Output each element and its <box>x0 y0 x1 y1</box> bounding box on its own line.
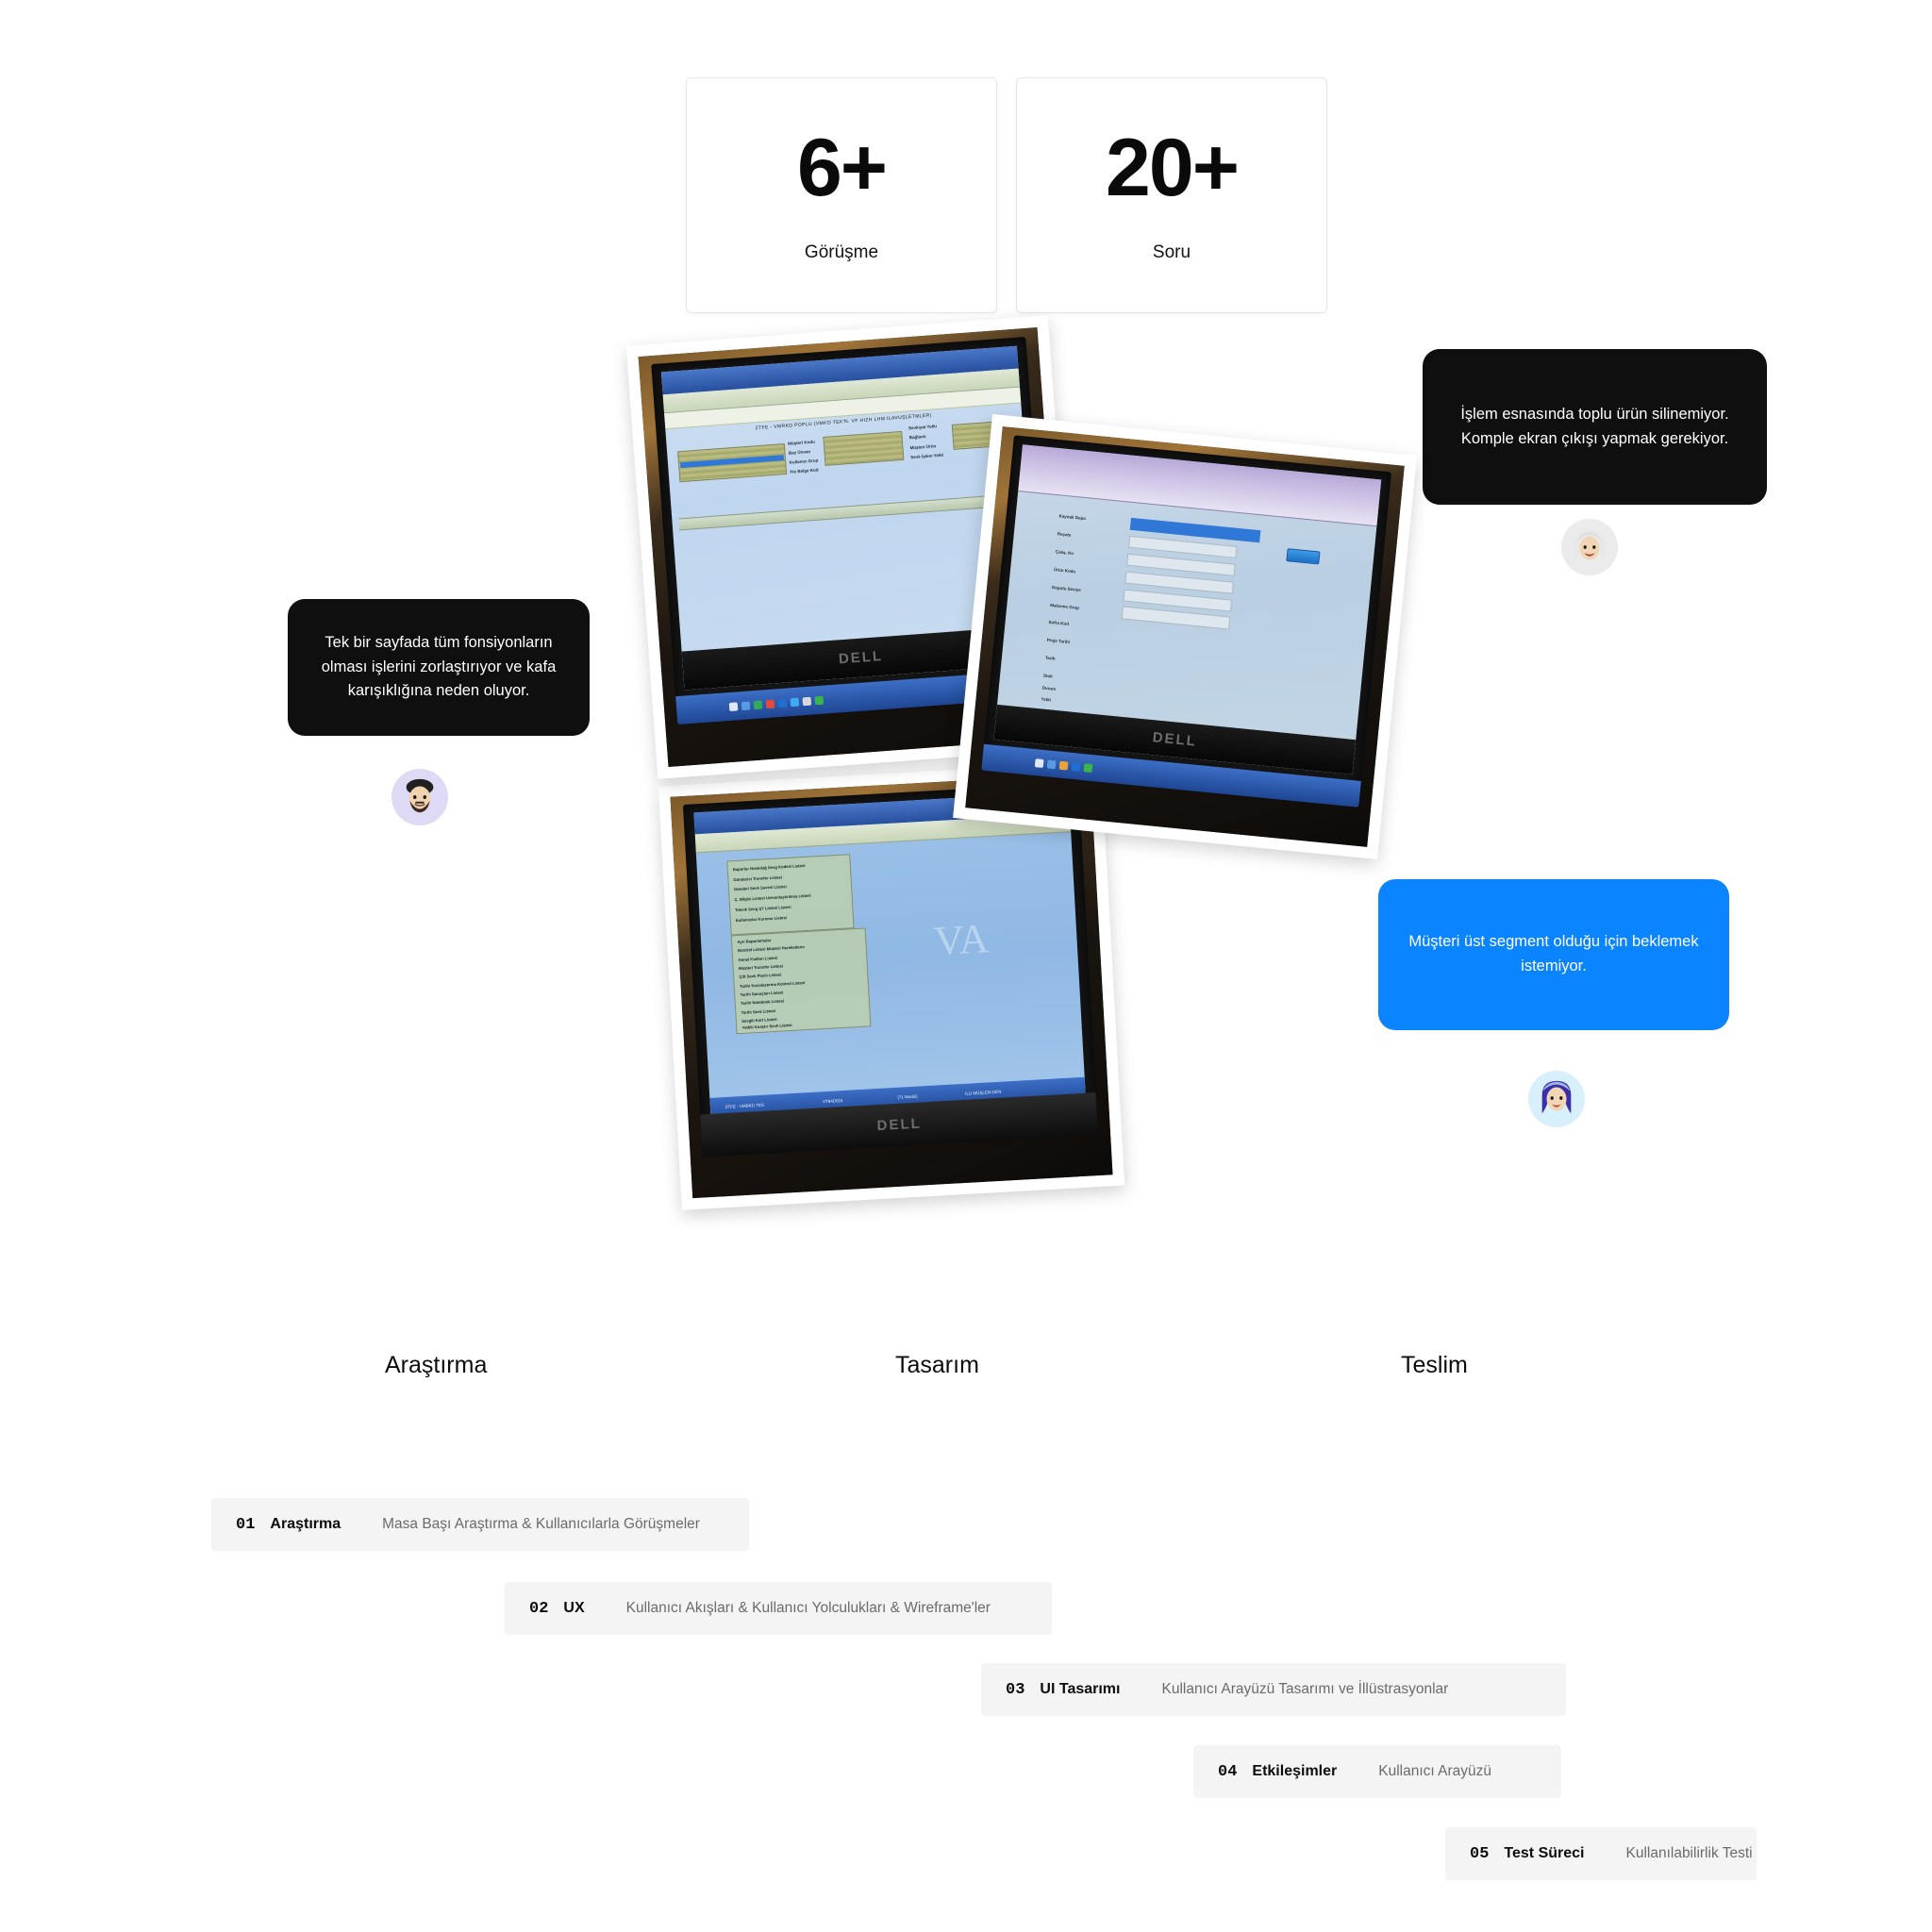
screen-watermark: VA <box>933 914 991 965</box>
monitor-screen: Kaynak Depo Reçete Çalış. Ko Ürün Kodu D… <box>993 444 1381 774</box>
form-field-block <box>824 431 904 465</box>
monitor-bezel: Kaynak Depo Reçete Çalış. Ko Ürün Kodu D… <box>981 435 1391 808</box>
quote-text: Müşteri üst segment olduğu için beklemek… <box>1403 930 1705 978</box>
dell-logo: DELL <box>1152 729 1198 750</box>
form-search-button[interactable] <box>1287 548 1321 564</box>
step-title: Araştırma <box>270 1516 341 1533</box>
taskbar-icon <box>1059 760 1069 770</box>
step-number: 04 <box>1218 1763 1237 1781</box>
photo-image: VA Raporlar Noskdağ Sevg Kodesi Listesi … <box>670 774 1112 1198</box>
taskbar-icon <box>1035 758 1044 768</box>
monitor-screen: VA Raporlar Noskdağ Sevg Kodesi Listesi … <box>693 791 1086 1124</box>
dropdown-menu-group-2[interactable]: Ayrı Raporlamalar Bordrol Listesi Müşter… <box>730 927 871 1034</box>
step-title: Test Süreci <box>1504 1845 1584 1862</box>
research-photo-2: Kaynak Depo Reçete Çalış. Ko Ürün Kodu D… <box>953 414 1417 859</box>
quote-bubble-pain-functions: Tek bir sayfada tüm fonsiyonların olması… <box>288 599 590 736</box>
avatar-memoji-woman-blue-hair <box>1528 1071 1585 1127</box>
memoji-man-beard-icon <box>398 775 441 819</box>
field-label: Sevkiyat Yetki <box>908 424 937 430</box>
field-label: Kullanıcı Grup <box>789 458 818 465</box>
dell-logo: DELL <box>838 648 883 667</box>
step-description: Kullanıcı Akışları & Kullanıcı Yolculukl… <box>626 1600 991 1617</box>
stats-row: 6+ Görüşme 20+ Soru <box>686 77 1327 313</box>
dropdown-menu-group-1[interactable]: Raporlar Noskdağ Sevg Kodesi Listesi Gön… <box>726 854 855 935</box>
research-photo-collage: ZTFE - VMRKD POPLU (VMKO TEK'N. VF HIZH … <box>641 330 1509 1255</box>
taskbar-window-label[interactable]: [71 Modül] <box>897 1093 917 1099</box>
monitor-bezel: VA Raporlar Noskdağ Sevg Kodesi Listesi … <box>683 782 1098 1158</box>
avatar-memoji-woman-white-hair <box>1561 519 1618 575</box>
field-label: Hız Belge Kod <box>790 468 819 475</box>
stat-label: Soru <box>1153 242 1191 263</box>
quote-bubble-pain-waiting: Müşteri üst segment olduğu için beklemek… <box>1378 879 1729 1030</box>
phase-label-tasarim: Tasarım <box>895 1352 979 1379</box>
taskbar-icon <box>777 698 787 708</box>
step-number: 02 <box>529 1600 548 1618</box>
field-label: Bağlantı <box>909 434 926 440</box>
step-description: Kullanıcı Arayüzü Tasarımı ve İllüstrasy… <box>1161 1681 1448 1698</box>
process-step-03[interactable]: 03 UI Tasarımı Kullanıcı Arayüzü Tasarım… <box>981 1663 1566 1716</box>
taskbar-icon <box>814 695 824 705</box>
step-number: 03 <box>1006 1681 1024 1699</box>
monitor-body: Kaynak Depo Reçete Çalış. Ko Ürün Kodu D… <box>965 426 1405 847</box>
step-title: UI Tasarımı <box>1040 1681 1120 1698</box>
avatar-memoji-man-beard <box>391 769 448 825</box>
monitor-body: VA Raporlar Noskdağ Sevg Kodesi Listesi … <box>670 774 1112 1198</box>
taskbar-icon <box>741 701 750 710</box>
taskbar-icon <box>765 699 774 708</box>
taskbar-icon <box>1072 762 1081 772</box>
quote-bubble-pain-bulk-delete: İşlem esnasında toplu ürün silinemiyor. … <box>1423 349 1767 505</box>
process-step-01[interactable]: 01 Araştırma Masa Başı Araştırma & Kulla… <box>211 1498 749 1551</box>
portfolio-case-study-page: 6+ Görüşme 20+ Soru ZTFE - VMRKD POPLU (… <box>0 0 1932 1932</box>
dell-logo: DELL <box>876 1116 922 1135</box>
step-description: Kullanılabilirlik Testi <box>1625 1845 1752 1862</box>
phase-label-arastirma: Araştırma <box>385 1352 487 1379</box>
table-header-row <box>678 492 1021 530</box>
research-photo-3: VA Raporlar Noskdağ Sevg Kodesi Listesi … <box>658 761 1124 1210</box>
memoji-woman-blue-hair-icon <box>1535 1077 1578 1121</box>
field-label: Müşteri Kodu <box>788 440 815 446</box>
stat-value: 6+ <box>797 127 886 208</box>
taskbar-icon <box>1047 759 1057 769</box>
field-label: Sevk İşlem Yetki <box>910 452 943 459</box>
stat-label: Görüşme <box>805 242 878 263</box>
taskbar-window-label[interactable]: ILU MÜŞLEM DEN <box>965 1089 1001 1095</box>
step-description: Masa Başı Araştırma & Kullanıcılarla Gör… <box>382 1516 700 1533</box>
photo-image: Kaynak Depo Reçete Çalış. Ko Ürün Kodu D… <box>965 426 1405 847</box>
step-title: Etkileşimler <box>1252 1763 1337 1780</box>
taskbar-icon <box>802 696 811 706</box>
step-number: 01 <box>236 1516 255 1534</box>
stat-card-questions: 20+ Soru <box>1016 77 1327 313</box>
field-label: Müşteri Ürün <box>909 443 936 450</box>
taskbar-icon <box>728 702 738 711</box>
memoji-woman-white-hair-icon <box>1568 525 1611 569</box>
taskbar-window-label[interactable]: VT84D024 <box>823 1098 843 1104</box>
taskbar-icon <box>1084 763 1093 773</box>
taskbar-icon <box>753 700 762 709</box>
field-label: Bay Ünvan <box>789 449 811 456</box>
step-number: 05 <box>1470 1845 1489 1863</box>
step-title: UX <box>563 1600 584 1617</box>
taskbar-icon <box>790 697 799 707</box>
step-description: Kullanıcı Arayüzü <box>1378 1763 1491 1780</box>
taskbar-window-label[interactable]: ZTFE - VMRKD TES <box>725 1102 765 1108</box>
stat-value: 20+ <box>1106 127 1238 208</box>
process-step-04[interactable]: 04 Etkileşimler Kullanıcı Arayüzü <box>1193 1745 1561 1798</box>
phase-label-teslim: Teslim <box>1401 1352 1468 1379</box>
quote-text: İşlem esnasında toplu ürün silinemiyor. … <box>1447 403 1742 451</box>
process-step-02[interactable]: 02 UX Kullanıcı Akışları & Kullanıcı Yol… <box>505 1582 1052 1635</box>
process-step-05[interactable]: 05 Test Süreci Kullanılabilirlik Testi <box>1445 1827 1757 1880</box>
stat-card-interviews: 6+ Görüşme <box>686 77 997 313</box>
quote-text: Tek bir sayfada tüm fonsiyonların olması… <box>312 631 565 704</box>
